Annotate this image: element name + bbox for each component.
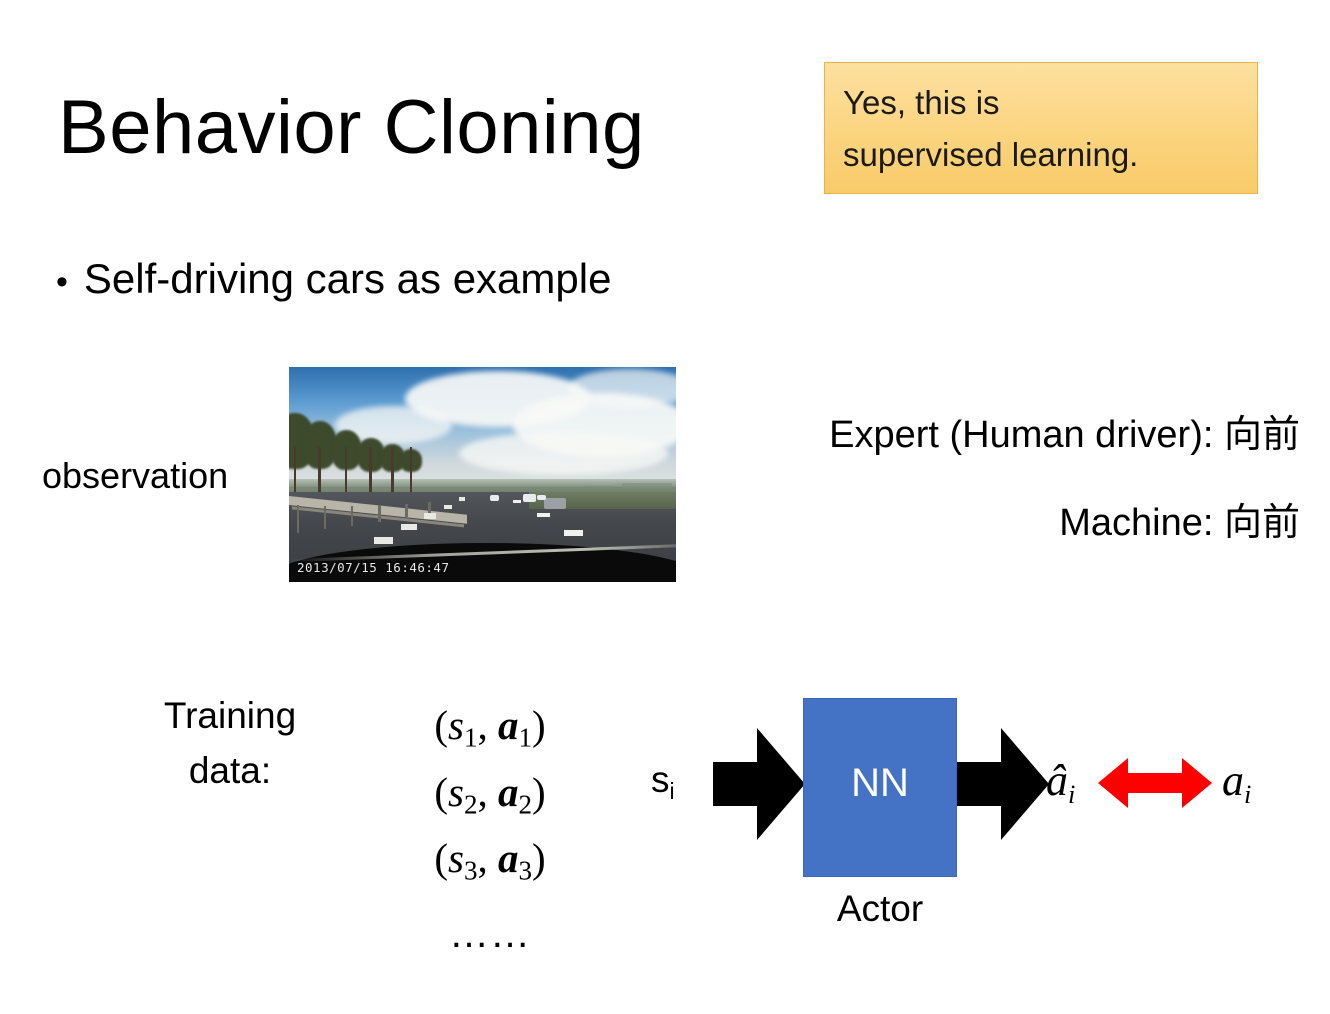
pair-action-symbol: a (498, 769, 519, 815)
pair-state-subscript: 1 (464, 723, 478, 753)
pair-open-paren: ( (434, 702, 448, 748)
machine-action-value: 向前 (1224, 500, 1300, 544)
pair-action-symbol: a (498, 702, 519, 748)
pair-comma: , (477, 769, 498, 815)
target-action-symbol: a (1222, 756, 1244, 805)
target-action-subscript: i (1244, 779, 1251, 809)
pair-action-subscript: 3 (518, 856, 532, 886)
bullet-item-label: Self-driving cars as example (84, 258, 612, 300)
black-block-arrow-right-output (957, 728, 1049, 840)
input-symbol: s (651, 759, 670, 800)
expert-annotation: Expert (Human driver): 向前 (0, 408, 1300, 461)
predicted-action-subscript: i (1068, 779, 1075, 809)
pipeline-input-label: si (651, 760, 675, 811)
callout-line-2: supervised learning. (843, 129, 1257, 181)
pair-close-paren: ) (532, 769, 546, 815)
predicted-action-symbol: â (1046, 756, 1068, 805)
pair-action-subscript: 2 (518, 789, 532, 819)
slide-canvas: Behavior Cloning Yes, this is supervised… (0, 0, 1330, 1014)
red-double-headed-arrow (1098, 756, 1212, 810)
photo-timestamp: 2013/07/15 16:46:47 (297, 560, 450, 575)
pair-comma: , (477, 835, 498, 881)
pair-open-paren: ( (434, 769, 448, 815)
target-action-label: ai (1222, 757, 1251, 818)
pair-state-subscript: 2 (464, 789, 478, 819)
page-title: Behavior Cloning (58, 82, 645, 174)
pair-state-symbol: s (448, 702, 464, 748)
expert-action-value: 向前 (1224, 412, 1300, 456)
nn-label: NN (804, 761, 956, 805)
black-block-arrow-right-input (713, 728, 805, 840)
expert-label: Expert (Human driver): (829, 414, 1224, 456)
pair-action-subscript: 1 (518, 723, 532, 753)
training-data-label-line2: data: (130, 743, 330, 798)
pair-state-symbol: s (448, 835, 464, 881)
observation-label: observation (42, 456, 228, 496)
training-pair-1: (s1, a1) (390, 698, 590, 765)
pair-close-paren: ) (532, 835, 546, 881)
training-data-pairs: (s1, a1) (s2, a2) (s3, a3) …… (390, 698, 590, 962)
pair-open-paren: ( (434, 835, 448, 881)
machine-annotation: Machine: 向前 (0, 496, 1300, 549)
callout-line-1: Yes, this is (843, 77, 1257, 129)
pair-comma: , (477, 702, 498, 748)
nn-block: NN (803, 698, 957, 877)
pair-action-symbol: a (498, 835, 519, 881)
training-pairs-ellipsis: …… (390, 906, 590, 962)
predicted-action-label: âi (1046, 757, 1075, 818)
callout-box: Yes, this is supervised learning. (824, 62, 1258, 194)
training-data-label-line1: Training (130, 688, 330, 743)
training-pair-2: (s2, a2) (390, 765, 590, 832)
training-pair-3: (s3, a3) (390, 831, 590, 898)
input-subscript: i (670, 778, 675, 804)
training-data-label: Training data: (130, 688, 330, 798)
machine-label: Machine: (1059, 502, 1224, 544)
pair-state-symbol: s (448, 769, 464, 815)
bullet-dot-icon: • (56, 265, 68, 299)
dashcam-photo: 2013/07/15 16:46:47 (289, 367, 676, 582)
pair-close-paren: ) (532, 702, 546, 748)
bullet-item: • Self-driving cars as example (56, 258, 611, 300)
actor-label: Actor (803, 888, 957, 930)
pair-state-subscript: 3 (464, 856, 478, 886)
